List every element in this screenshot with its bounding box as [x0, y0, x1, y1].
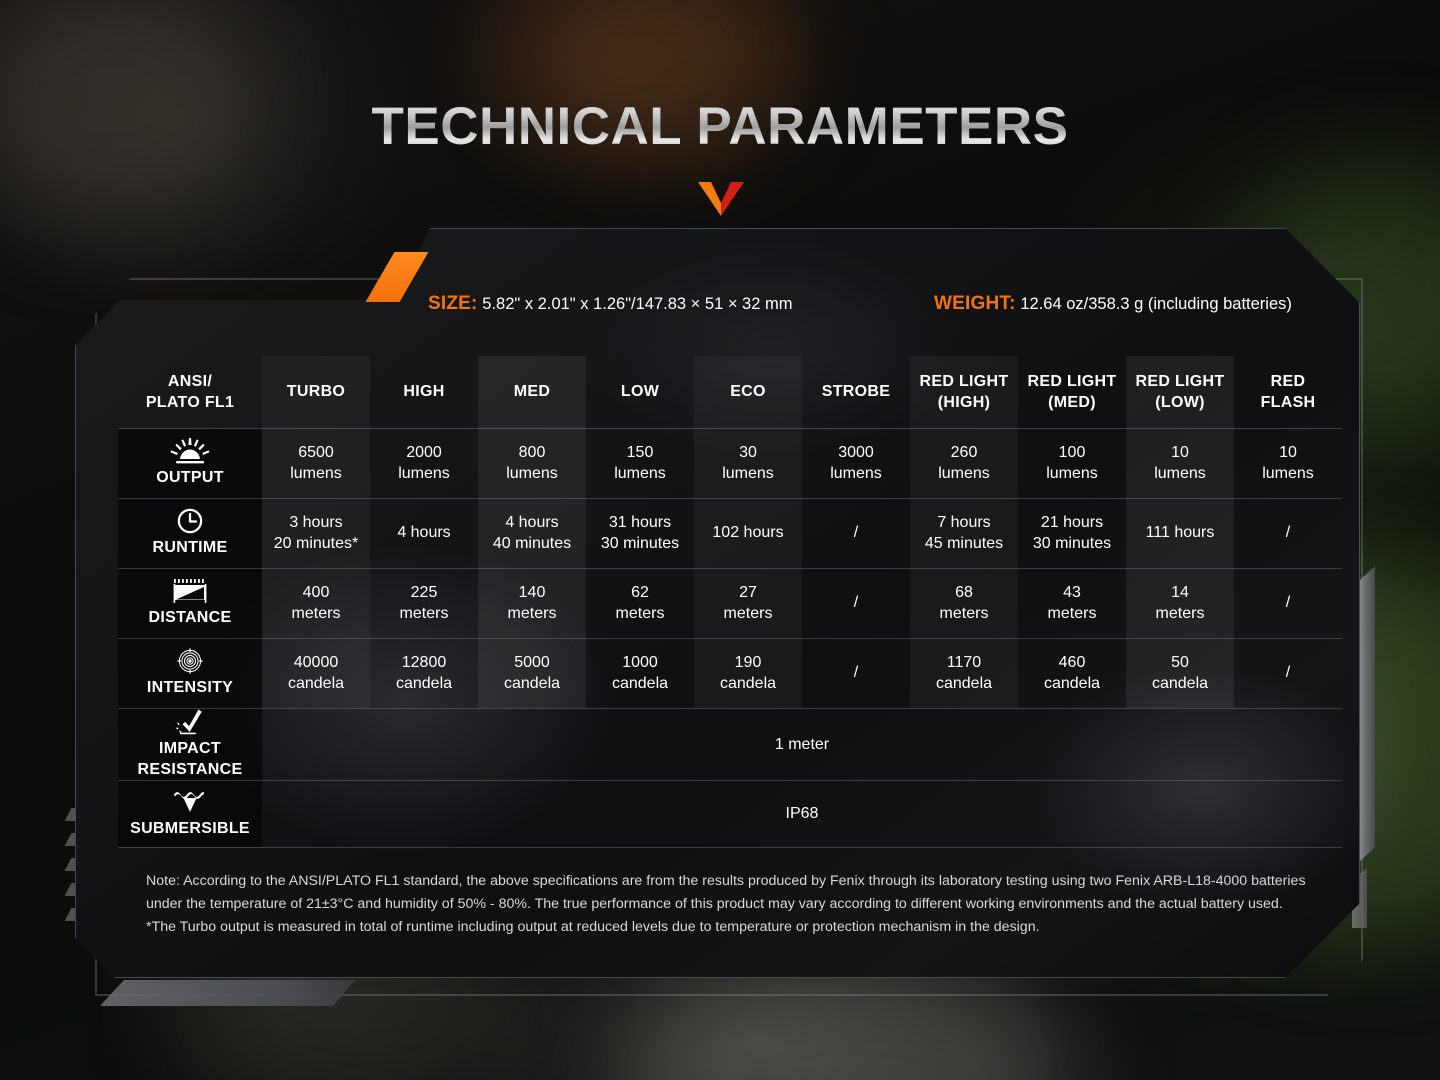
bottom-bar-decoration [100, 980, 355, 1006]
header-red-light-high: RED LIGHT (HIGH) [910, 356, 1018, 428]
cell-output-red-med: 100lumens [1018, 428, 1126, 498]
cell-runtime-red-flash: / [1234, 498, 1342, 568]
cell-distance-red-flash: / [1234, 568, 1342, 638]
row-label-distance-text: DISTANCE [118, 607, 262, 628]
footnote-line-1: Note: According to the ANSI/PLATO FL1 st… [146, 870, 1336, 916]
size-label: SIZE: [428, 293, 478, 314]
header-red-light-med-line1: RED LIGHT [1028, 373, 1117, 390]
cell-distance-high: 225meters [370, 568, 478, 638]
cell-submersible-value: IP68 [262, 780, 1342, 847]
row-label-impact-resistance-text: IMPACT RESISTANCE [118, 738, 262, 780]
clock-icon [176, 508, 204, 534]
table-row-submersible: SUBMERSIBLE IP68 [118, 780, 1342, 847]
cell-intensity-med: 5000candela [478, 638, 586, 708]
cell-runtime-eco: 102 hours [694, 498, 802, 568]
cell-runtime-med: 4 hours40 minutes [478, 498, 586, 568]
header-med-line1: MED [514, 383, 550, 400]
cell-output-low: 150lumens [586, 428, 694, 498]
water-submersion-icon [172, 789, 208, 815]
cell-output-high: 2000lumens [370, 428, 478, 498]
table-header-row: ANSI/ PLATO FL1 TURBO HIGH MED LOW ECO [118, 356, 1342, 428]
page-title: TECHNICAL PARAMETERS [371, 96, 1068, 157]
header-strobe: STROBE [802, 356, 910, 428]
cell-intensity-red-flash: / [1234, 638, 1342, 708]
header-low-line1: LOW [621, 383, 659, 400]
cell-intensity-eco: 190candela [694, 638, 802, 708]
cell-distance-med: 140meters [478, 568, 586, 638]
row-label-runtime: RUNTIME [118, 498, 262, 568]
cell-distance-strobe: / [802, 568, 910, 638]
page-background: TECHNICAL PARAMETERS SIZE: 5.82" x 2.01"… [0, 0, 1440, 1080]
table-row-distance: DISTANCE 400meters 225meters 140meters 6… [118, 568, 1342, 638]
cell-output-med: 800lumens [478, 428, 586, 498]
row-label-intensity: INTENSITY [118, 638, 262, 708]
row-label-submersible: SUBMERSIBLE [118, 780, 262, 847]
header-red-light-med-line2: (MED) [1048, 394, 1096, 411]
header-red-flash-line2: FLASH [1261, 394, 1316, 411]
cell-distance-red-med: 43meters [1018, 568, 1126, 638]
cell-runtime-strobe: / [802, 498, 910, 568]
cell-impact-resistance-value: 1 meter [262, 708, 1342, 780]
impact-drop-icon [174, 709, 206, 735]
cell-output-turbo: 6500lumens [262, 428, 370, 498]
header-red-light-high-line2: (HIGH) [938, 394, 990, 411]
cell-output-red-low: 10lumens [1126, 428, 1234, 498]
cell-distance-low: 62meters [586, 568, 694, 638]
right-bar-decoration [1360, 566, 1375, 861]
header-ansi-line2: PLATO FL1 [146, 394, 234, 411]
row-label-impact-resistance: IMPACT RESISTANCE [118, 708, 262, 780]
weight-value: 12.64 oz/358.3 g (including batteries) [1020, 295, 1292, 313]
header-ansi-line1: ANSI/ [168, 373, 212, 390]
sunburst-icon [168, 438, 212, 464]
header-strobe-line1: STROBE [822, 383, 890, 400]
weight-block: WEIGHT: 12.64 oz/358.3 g (including batt… [934, 293, 1292, 315]
cell-runtime-red-low: 111 hours [1126, 498, 1234, 568]
header-red-light-med: RED LIGHT (MED) [1018, 356, 1126, 428]
weight-label: WEIGHT: [934, 293, 1016, 314]
row-label-distance: DISTANCE [118, 568, 262, 638]
cell-intensity-red-med: 460candela [1018, 638, 1126, 708]
cell-distance-turbo: 400meters [262, 568, 370, 638]
cell-intensity-high: 12800candela [370, 638, 478, 708]
header-ansi-plato: ANSI/ PLATO FL1 [118, 356, 262, 428]
chevron-down-icon [698, 182, 744, 216]
table-row-output: OUTPUT 6500lumens 2000lumens 800lumens 1… [118, 428, 1342, 498]
cell-output-eco: 30lumens [694, 428, 802, 498]
cell-runtime-high: 4 hours [370, 498, 478, 568]
cell-intensity-low: 1000candela [586, 638, 694, 708]
footnote-block: Note: According to the ANSI/PLATO FL1 st… [146, 870, 1336, 939]
header-red-light-low: RED LIGHT (LOW) [1126, 356, 1234, 428]
size-block: SIZE: 5.82" x 2.01" x 1.26"/147.83 × 51 … [428, 293, 793, 315]
cell-runtime-red-high: 7 hours45 minutes [910, 498, 1018, 568]
header-high: HIGH [370, 356, 478, 428]
header-turbo: TURBO [262, 356, 370, 428]
cell-distance-red-high: 68meters [910, 568, 1018, 638]
header-eco-line1: ECO [730, 383, 766, 400]
page-title-container: TECHNICAL PARAMETERS [0, 96, 1440, 157]
cell-distance-red-low: 14meters [1126, 568, 1234, 638]
row-label-output: OUTPUT [118, 428, 262, 498]
row-label-submersible-text: SUBMERSIBLE [118, 818, 262, 839]
cell-intensity-red-high: 1170candela [910, 638, 1018, 708]
cell-intensity-turbo: 40000candela [262, 638, 370, 708]
background-bokeh [620, 960, 1080, 1080]
size-value: 5.82" x 2.01" x 1.26"/147.83 × 51 × 32 m… [482, 295, 792, 313]
row-label-runtime-text: RUNTIME [118, 537, 262, 558]
cell-runtime-low: 31 hours30 minutes [586, 498, 694, 568]
header-low: LOW [586, 356, 694, 428]
technical-parameters-table: ANSI/ PLATO FL1 TURBO HIGH MED LOW ECO [118, 356, 1342, 848]
cell-distance-eco: 27meters [694, 568, 802, 638]
header-eco: ECO [694, 356, 802, 428]
header-red-flash: RED FLASH [1234, 356, 1342, 428]
table-row-runtime: RUNTIME 3 hours20 minutes* 4 hours 4 hou… [118, 498, 1342, 568]
cell-output-red-flash: 10lumens [1234, 428, 1342, 498]
header-red-flash-line1: RED [1271, 373, 1306, 390]
footnote-line-2: *The Turbo output is measured in total o… [146, 916, 1336, 939]
target-rings-icon [175, 648, 205, 674]
row-label-intensity-text: INTENSITY [118, 677, 262, 698]
header-red-light-low-line1: RED LIGHT [1136, 373, 1225, 390]
table-row-intensity: INTENSITY 40000candela 12800candela 5000… [118, 638, 1342, 708]
beam-distance-icon [173, 578, 207, 604]
header-med: MED [478, 356, 586, 428]
header-red-light-high-line1: RED LIGHT [920, 373, 1009, 390]
cell-output-strobe: 3000lumens [802, 428, 910, 498]
cell-runtime-red-med: 21 hours30 minutes [1018, 498, 1126, 568]
cell-output-red-high: 260lumens [910, 428, 1018, 498]
header-red-light-low-line2: (LOW) [1155, 394, 1204, 411]
row-label-output-text: OUTPUT [118, 467, 262, 488]
cell-intensity-strobe: / [802, 638, 910, 708]
header-high-line1: HIGH [403, 383, 444, 400]
table-row-impact-resistance: IMPACT RESISTANCE 1 meter [118, 708, 1342, 780]
header-turbo-line1: TURBO [287, 383, 345, 400]
cell-intensity-red-low: 50candela [1126, 638, 1234, 708]
cell-runtime-turbo: 3 hours20 minutes* [262, 498, 370, 568]
